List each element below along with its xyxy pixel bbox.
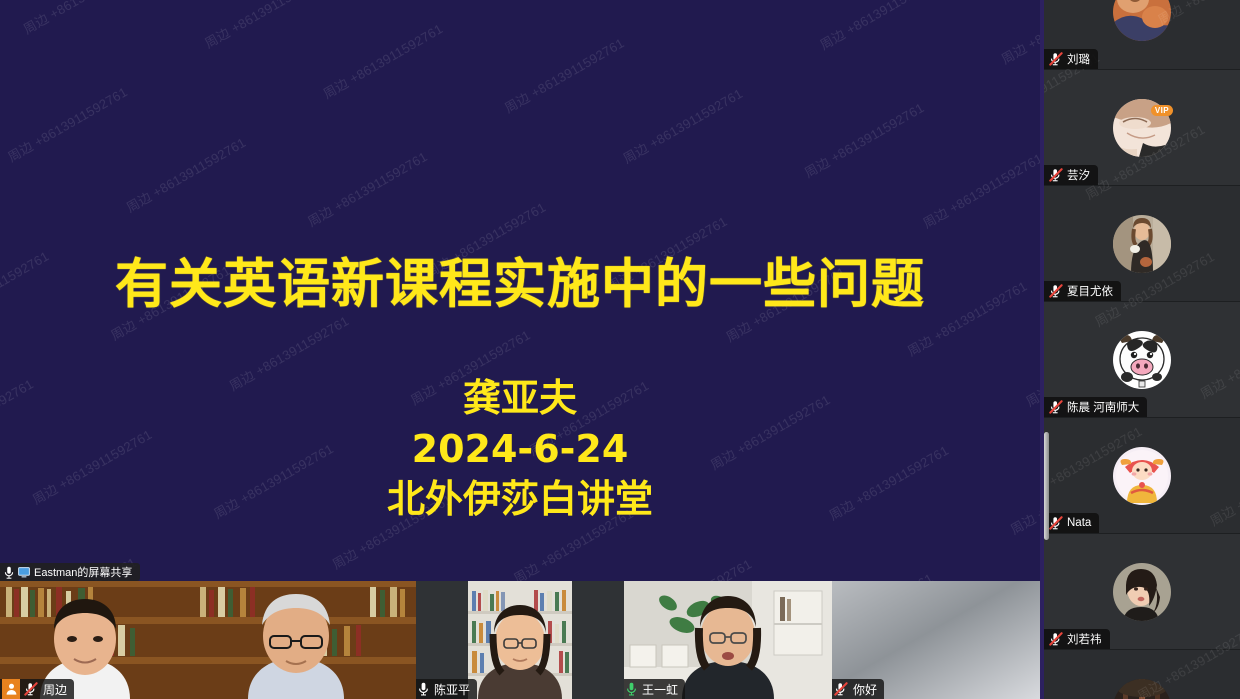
filmstrip-tile[interactable]: 陈亚平	[416, 581, 624, 699]
participant-name: 周边	[42, 681, 67, 698]
microphone-icon	[418, 682, 429, 696]
slide-author: 龚亚夫	[463, 373, 577, 424]
avatar	[1113, 99, 1171, 157]
screen-share-label: Eastman的屏幕共享	[34, 564, 132, 580]
filmstrip-tile[interactable]: 王一虹	[624, 581, 832, 699]
slide-date: 2024-6-24	[412, 424, 629, 475]
participant-name: 陈亚平	[433, 681, 470, 698]
sidebar-participant-tile[interactable]	[1044, 650, 1240, 699]
mic-muted-icon	[1049, 516, 1063, 530]
presentation-slide: 有关英语新课程实施中的一些问题 龚亚夫 2024-6-24 北外伊莎白讲堂	[0, 0, 1040, 581]
participant-name-chip: 陈亚平	[416, 679, 477, 699]
avatar	[1113, 447, 1171, 505]
sidebar-participant-tile[interactable]: 夏目尤依	[1044, 186, 1240, 302]
participant-name-chip: 刘璐	[1044, 49, 1098, 69]
participant-name-chip: 夏目尤依	[1044, 281, 1121, 301]
participant-sidebar[interactable]: 周边 +8613911592761周边 +8613911592761周边 +86…	[1044, 0, 1240, 699]
mic-muted-icon	[1049, 284, 1063, 298]
avatar	[1113, 679, 1171, 699]
participant-name-chip: 芸汐	[1044, 165, 1098, 185]
microphone-icon	[4, 566, 14, 579]
sidebar-participant-tile[interactable]: 刘璐	[1044, 0, 1240, 70]
avatar	[1113, 215, 1171, 273]
mic-muted-icon	[24, 682, 38, 696]
filmstrip-tile[interactable]: 周边	[0, 581, 416, 699]
sidebar-participant-tile[interactable]: Nata	[1044, 418, 1240, 534]
sidebar-list[interactable]: 刘璐VIP芸汐夏目尤依陈晨 河南师大Nata刘若祎	[1044, 0, 1240, 699]
sidebar-participant-tile[interactable]: 陈晨 河南师大	[1044, 302, 1240, 418]
screen-share-banner: Eastman的屏幕共享	[0, 563, 140, 581]
participant-name: 刘若祎	[1067, 631, 1102, 647]
slide-title: 有关英语新课程实施中的一些问题	[115, 258, 925, 311]
sidebar-participant-tile[interactable]: VIP芸汐	[1044, 70, 1240, 186]
participant-name-chip: 陈晨 河南师大	[1044, 397, 1147, 417]
participant-name: 夏目尤依	[1067, 283, 1113, 299]
mic-muted-icon	[834, 682, 848, 696]
shared-slide-area[interactable]: 周边 +8613911592761周边 +8613911592761周边 +86…	[0, 0, 1040, 581]
participant-name-chip: 你好	[832, 679, 884, 699]
sidebar-participant-tile[interactable]: 刘若祎	[1044, 534, 1240, 650]
avatar	[1113, 563, 1171, 621]
mic-muted-icon	[1049, 52, 1063, 66]
avatar	[1113, 331, 1171, 389]
participant-name: 陈晨 河南师大	[1067, 399, 1139, 415]
filmstrip-tile[interactable]: 你好	[832, 581, 1040, 699]
participant-name-chip: Nata	[1044, 513, 1099, 533]
shared-screen-stage: 周边 +8613911592761周边 +8613911592761周边 +86…	[0, 0, 1040, 699]
participant-name-chip: 王一虹	[624, 679, 685, 699]
avatar	[1113, 0, 1171, 41]
participant-name: 王一虹	[641, 681, 678, 698]
mic-muted-icon	[1049, 400, 1063, 414]
slide-venue: 北外伊莎白讲堂	[387, 474, 653, 525]
participant-name-chip: 周边	[0, 679, 74, 699]
microphone-icon	[626, 682, 637, 696]
participant-name: 刘璐	[1067, 51, 1090, 67]
participant-filmstrip[interactable]: 周边陈亚平王一虹你好	[0, 581, 1040, 699]
mic-muted-icon	[1049, 632, 1063, 646]
meeting-window: 周边 +8613911592761周边 +8613911592761周边 +86…	[0, 0, 1240, 699]
participant-name-chip: 刘若祎	[1044, 629, 1110, 649]
participant-name: 你好	[852, 681, 877, 698]
participant-name: 芸汐	[1067, 167, 1090, 183]
screen-share-icon	[18, 567, 30, 578]
host-person-icon	[2, 679, 20, 699]
participant-name: Nata	[1067, 517, 1091, 529]
sidebar-scrollbar[interactable]	[1044, 432, 1049, 540]
mic-muted-icon	[1049, 168, 1063, 182]
